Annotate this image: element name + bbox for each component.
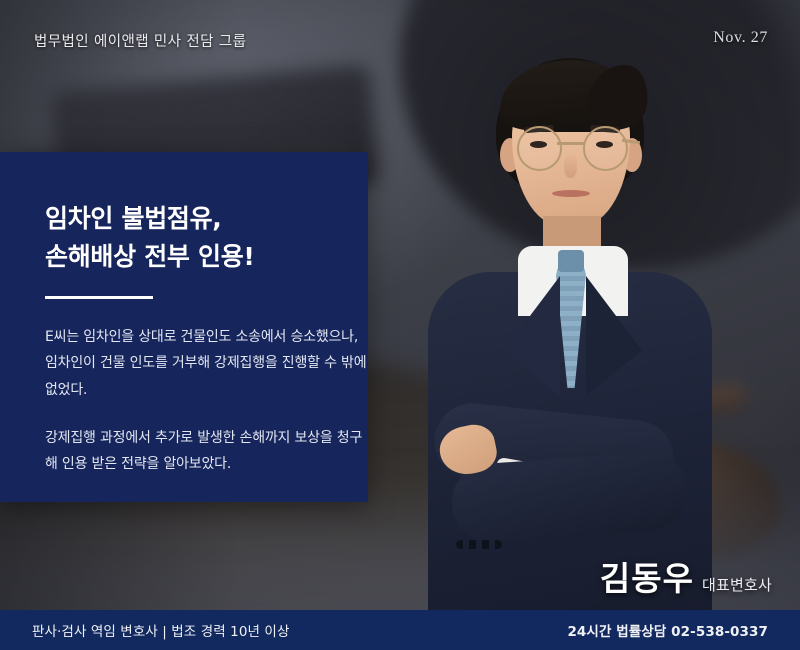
footer-bar: 판사·검사 역임 변호사 | 법조 경력 10년 이상 24시간 법률상담 02… xyxy=(0,610,800,650)
panel-body-text: E씨는 임차인을 상대로 건물인도 소송에서 승소했으나, 임차인이 건물 인도… xyxy=(45,324,368,478)
panel-headline-line2: 손해배상 전부 인용! xyxy=(45,238,255,276)
portrait-nose xyxy=(564,152,577,178)
panel-paragraph-1: E씨는 임차인을 상대로 건물인도 소송에서 승소했으나, 임차인이 건물 인도… xyxy=(45,324,368,403)
date-label: Nov. 27 xyxy=(713,29,768,47)
portrait-tie-knot xyxy=(558,250,584,272)
panel-paragraph-2: 강제집행 과정에서 추가로 발생한 손해까지 보상을 청구해 인용 받은 전략을… xyxy=(45,425,368,478)
panel-headline-line1: 임차인 불법점유, xyxy=(45,200,255,238)
portrait-mouth xyxy=(552,190,590,197)
legal-promo-card: 법무법인 에이앤랩 민사 전담 그룹 Nov. 27 임차인 불법점유, 손해배… xyxy=(0,0,800,650)
glasses-lens-right xyxy=(583,126,628,171)
panel-headline: 임차인 불법점유, 손해배상 전부 인용! xyxy=(45,200,255,276)
glasses-bridge xyxy=(557,142,584,145)
lawyer-title: 대표변호사 xyxy=(702,574,772,595)
firm-name-label: 법무법인 에이앤랩 민사 전담 그룹 xyxy=(34,30,246,51)
lawyer-name: 김동우 xyxy=(600,552,694,600)
portrait-sleeve-buttons xyxy=(456,540,502,549)
panel-divider xyxy=(45,296,153,299)
lawyer-portrait xyxy=(400,40,730,610)
footer-credentials: 판사·검사 역임 변호사 | 법조 경력 10년 이상 xyxy=(32,620,289,640)
glasses-icon xyxy=(517,126,562,171)
footer-contact[interactable]: 24시간 법률상담 02-538-0337 xyxy=(567,620,768,640)
lawyer-name-block: 김동우 대표변호사 xyxy=(600,552,772,600)
info-panel: 임차인 불법점유, 손해배상 전부 인용! E씨는 임차인을 상대로 건물인도 … xyxy=(0,152,368,502)
